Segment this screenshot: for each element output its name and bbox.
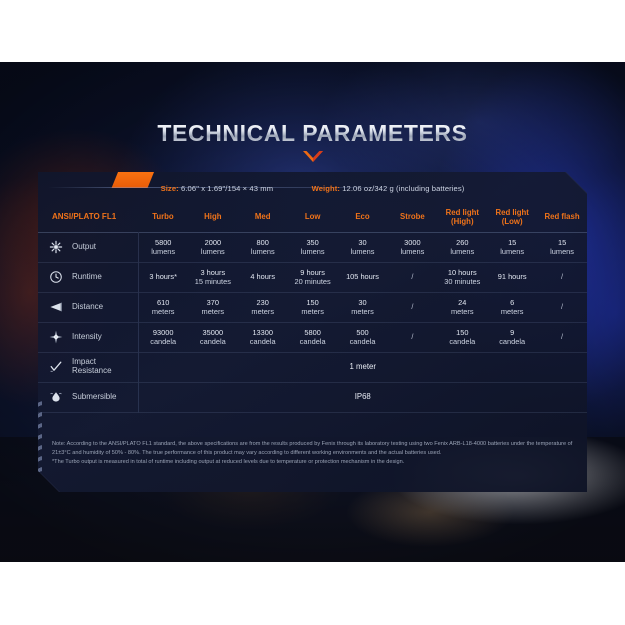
cell-output-red-flash: 15lumens	[537, 232, 587, 262]
table-row: Runtime 3 hours* 3 hours15 minutes 4 hou…	[38, 262, 587, 292]
cell-intensity-med: 13300candela	[238, 322, 288, 352]
size-value: 6.06" x 1.69"/154 × 43 mm	[181, 184, 273, 193]
cell-output-strobe: 3000lumens	[387, 232, 437, 262]
row-label: Distance	[72, 303, 103, 312]
cell-intensity-turbo: 93000candela	[138, 322, 188, 352]
cell-output-red-low: 15lumens	[487, 232, 537, 262]
column-header-red-flash: Red flash	[537, 204, 587, 232]
footnote: Note: According to the ANSI/PLATO FL1 st…	[52, 440, 574, 467]
cell-submersible-value: IP68	[138, 382, 587, 412]
specifications-table: ANSI/PLATO FL1 Turbo High Med Low Eco St…	[38, 204, 587, 413]
cell-output-med: 800lumens	[238, 232, 288, 262]
cell-distance-high: 370meters	[188, 292, 238, 322]
water-drop-icon	[48, 389, 64, 405]
cell-runtime-red-flash: /	[537, 262, 587, 292]
table-row: Distance 610meters 370meters 230meters 1…	[38, 292, 587, 322]
column-header-red-light-high: Red light (High)	[437, 204, 487, 232]
page-title: TECHNICAL PARAMETERS	[0, 120, 625, 147]
row-header-intensity: Intensity	[38, 322, 138, 352]
cell-intensity-low: 5800candela	[288, 322, 338, 352]
cell-runtime-eco: 105 hours	[338, 262, 388, 292]
column-header-med: Med	[238, 204, 288, 232]
row-header-distance: Distance	[38, 292, 138, 322]
cell-distance-red-flash: /	[537, 292, 587, 322]
row-label: Impact Resistance	[72, 358, 138, 376]
cell-output-eco: 30lumens	[338, 232, 388, 262]
weight-value: 12.06 oz/342 g (including batteries)	[342, 184, 464, 193]
cell-runtime-red-high: 10 hours30 minutes	[437, 262, 487, 292]
cell-output-turbo: 5800lumens	[138, 232, 188, 262]
table-row: Submersible IP68	[38, 382, 587, 412]
cell-runtime-red-low: 91 hours	[487, 262, 537, 292]
cell-output-low: 350lumens	[288, 232, 338, 262]
cell-intensity-red-high: 150candela	[437, 322, 487, 352]
cell-distance-turbo: 610meters	[138, 292, 188, 322]
cell-runtime-turbo: 3 hours*	[138, 262, 188, 292]
cell-intensity-red-low: 9candela	[487, 322, 537, 352]
spec-panel: Size: 6.06" x 1.69"/154 × 43 mm Weight: …	[38, 172, 587, 492]
screenshot-root: TECHNICAL PARAMETERS Size: 6.06" x 1.69"…	[0, 0, 625, 625]
row-label: Submersible	[72, 393, 116, 402]
cell-impact-resistance-value: 1 meter	[138, 352, 587, 382]
footnote-line-1: Note: According to the ANSI/PLATO FL1 st…	[52, 440, 574, 458]
cell-distance-red-high: 24meters	[437, 292, 487, 322]
cell-intensity-red-flash: /	[537, 322, 587, 352]
row-header-impact-resistance: Impact Resistance	[38, 352, 138, 382]
column-header-eco: Eco	[338, 204, 388, 232]
cell-runtime-strobe: /	[387, 262, 437, 292]
table-row: Impact Resistance 1 meter	[38, 352, 587, 382]
row-label: Intensity	[72, 333, 102, 342]
cell-distance-eco: 30meters	[338, 292, 388, 322]
sun-burst-icon	[48, 239, 64, 255]
cell-distance-strobe: /	[387, 292, 437, 322]
table-row: Output 5800lumens 2000lumens 800lumens 3…	[38, 232, 587, 262]
column-header-red-light-low: Red light (Low)	[487, 204, 537, 232]
beam-distance-icon	[48, 299, 64, 315]
row-label: Output	[72, 243, 96, 252]
compass-star-icon	[48, 329, 64, 345]
table-row: Intensity 93000candela 35000candela 1330…	[38, 322, 587, 352]
cell-runtime-med: 4 hours	[238, 262, 288, 292]
table-header-row: ANSI/PLATO FL1 Turbo High Med Low Eco St…	[38, 204, 587, 232]
column-header-high: High	[188, 204, 238, 232]
cell-output-high: 2000lumens	[188, 232, 238, 262]
table-corner-header: ANSI/PLATO FL1	[38, 204, 138, 232]
row-header-output: Output	[38, 232, 138, 262]
size-weight-strip: Size: 6.06" x 1.69"/154 × 43 mm Weight: …	[38, 184, 587, 193]
footnote-line-2: *The Turbo output is measured in total o…	[52, 458, 574, 467]
cell-intensity-eco: 500candela	[338, 322, 388, 352]
cell-runtime-high: 3 hours15 minutes	[188, 262, 238, 292]
weight-label: Weight:	[312, 184, 340, 193]
cell-distance-med: 230meters	[238, 292, 288, 322]
row-header-submersible: Submersible	[38, 382, 138, 412]
cell-intensity-high: 35000candela	[188, 322, 238, 352]
chevron-down-icon	[302, 150, 324, 164]
column-header-low: Low	[288, 204, 338, 232]
size-label: Size:	[161, 184, 179, 193]
column-header-strobe: Strobe	[387, 204, 437, 232]
cell-output-red-high: 260lumens	[437, 232, 487, 262]
row-header-runtime: Runtime	[38, 262, 138, 292]
column-header-turbo: Turbo	[138, 204, 188, 232]
cell-intensity-strobe: /	[387, 322, 437, 352]
clock-icon	[48, 269, 64, 285]
impact-check-icon	[48, 359, 64, 375]
cell-distance-red-low: 6meters	[487, 292, 537, 322]
cell-distance-low: 150meters	[288, 292, 338, 322]
table-body: Output 5800lumens 2000lumens 800lumens 3…	[38, 232, 587, 412]
row-label: Runtime	[72, 273, 102, 282]
cell-runtime-low: 9 hours20 minutes	[288, 262, 338, 292]
